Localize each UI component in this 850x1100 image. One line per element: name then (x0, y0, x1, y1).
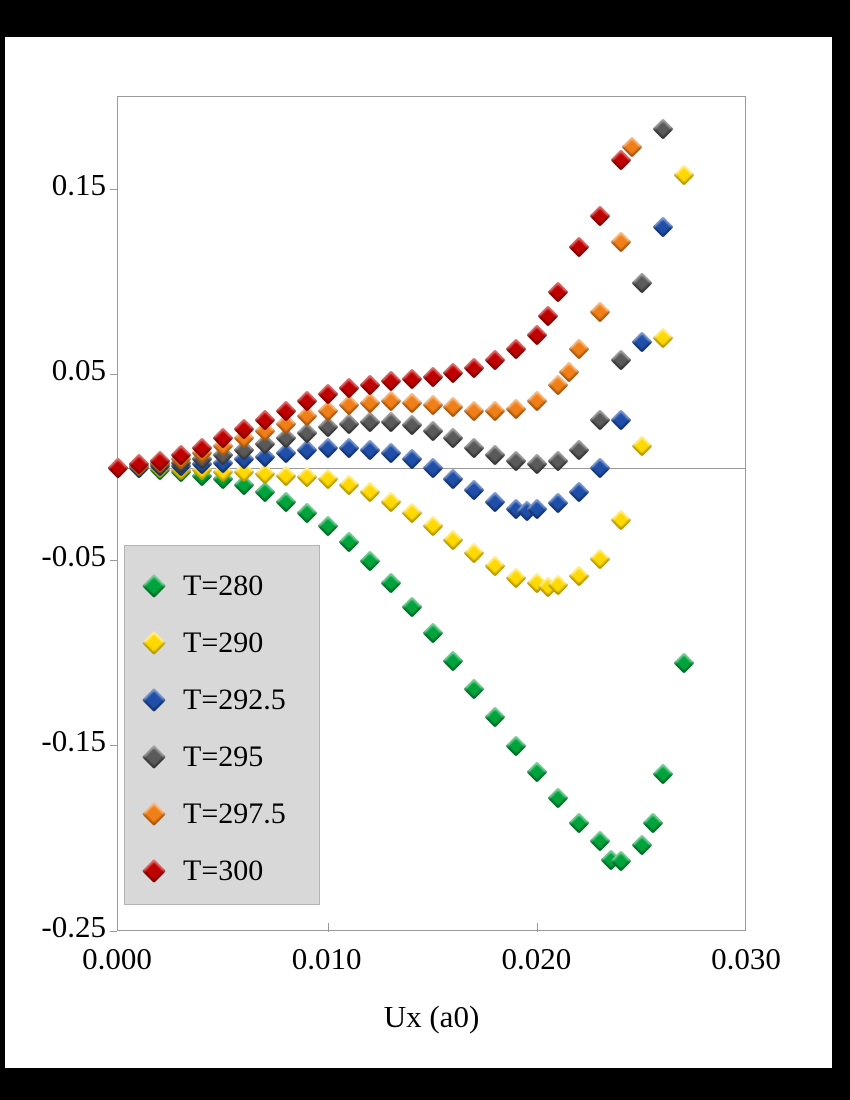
data-point-marker (422, 623, 443, 644)
data-point-marker (653, 328, 674, 349)
legend-item-label: T=297.5 (183, 797, 286, 831)
data-point-marker (422, 367, 443, 388)
data-point-marker (443, 469, 464, 490)
legend-marker-icon (143, 803, 165, 825)
data-point-marker (401, 597, 422, 618)
legend-marker-icon (143, 632, 165, 654)
data-point-marker (443, 530, 464, 551)
y-axis-tick-label: -0.05 (0, 538, 106, 574)
data-point-marker (317, 469, 338, 490)
data-point-marker (548, 281, 569, 302)
legend-marker-icon (143, 860, 165, 882)
data-point-marker (359, 550, 380, 571)
data-point-marker (443, 396, 464, 417)
data-point-marker (401, 368, 422, 389)
data-point-marker (275, 491, 296, 512)
data-point-marker (590, 409, 611, 430)
y-axis-tick (110, 560, 117, 561)
x-axis-tick (537, 923, 538, 932)
data-point-marker (338, 474, 359, 495)
legend-item[interactable]: T=300 (125, 841, 319, 901)
data-point-marker (464, 480, 485, 501)
y-axis-tick-label: -0.15 (0, 723, 106, 759)
data-point-marker (380, 391, 401, 412)
legend-item[interactable]: T=290 (125, 613, 319, 673)
data-point-marker (506, 398, 527, 419)
data-point-marker (380, 491, 401, 512)
data-point-marker (464, 543, 485, 564)
data-point-marker (611, 509, 632, 530)
data-point-marker (569, 439, 590, 460)
data-point-marker (653, 764, 674, 785)
x-axis-tick-label: 0.000 (37, 941, 197, 977)
data-point-marker (527, 324, 548, 345)
data-point-marker (548, 493, 569, 514)
data-point-marker (443, 363, 464, 384)
data-point-marker (485, 445, 506, 466)
y-axis-tick (110, 374, 117, 375)
data-point-marker (401, 448, 422, 469)
data-point-marker (485, 706, 506, 727)
legend-item-label: T=280 (183, 569, 263, 603)
data-point-marker (422, 458, 443, 479)
data-point-marker (359, 482, 380, 503)
data-point-marker (296, 391, 317, 412)
data-point-marker (611, 231, 632, 252)
data-point-marker (506, 567, 527, 588)
y-axis-tick (110, 931, 117, 932)
data-point-marker (673, 652, 694, 673)
data-point-marker (590, 458, 611, 479)
data-point-marker (422, 394, 443, 415)
data-point-marker (422, 515, 443, 536)
data-point-marker (569, 237, 590, 258)
data-point-marker (611, 350, 632, 371)
data-point-marker (506, 736, 527, 757)
x-axis-tick-label: 0.010 (247, 941, 407, 977)
data-point-marker (380, 370, 401, 391)
y-axis-tick (110, 745, 117, 746)
data-point-marker (590, 302, 611, 323)
data-point-marker (569, 482, 590, 503)
data-point-marker (401, 415, 422, 436)
data-point-marker (569, 565, 590, 586)
data-point-marker (485, 491, 506, 512)
data-point-marker (380, 411, 401, 432)
data-point-marker (569, 812, 590, 833)
data-point-marker (485, 400, 506, 421)
image-frame: G(P,T;Ux) - G(P,T;Ux=0) (meV/5-atom cell… (0, 0, 850, 1100)
data-point-marker (642, 812, 663, 833)
data-point-marker (485, 350, 506, 371)
data-point-marker (464, 678, 485, 699)
data-point-marker (632, 272, 653, 293)
data-point-marker (537, 305, 558, 326)
x-axis-tick (328, 923, 329, 932)
data-point-marker (443, 650, 464, 671)
data-point-marker (590, 830, 611, 851)
data-point-marker (359, 439, 380, 460)
data-point-marker (485, 556, 506, 577)
legend-item[interactable]: T=292.5 (125, 670, 319, 730)
data-point-marker (632, 435, 653, 456)
data-point-marker (359, 393, 380, 414)
data-point-marker (254, 482, 275, 503)
data-point-marker (632, 834, 653, 855)
legend-item[interactable]: T=295 (125, 727, 319, 787)
data-point-marker (338, 532, 359, 553)
legend-item-label: T=292.5 (183, 683, 286, 717)
data-point-marker (464, 437, 485, 458)
data-point-marker (401, 393, 422, 414)
data-point-marker (464, 400, 485, 421)
data-point-marker (527, 762, 548, 783)
y-axis-tick (110, 189, 117, 190)
legend-marker-icon (143, 689, 165, 711)
data-point-marker (275, 400, 296, 421)
data-point-marker (338, 413, 359, 434)
data-point-marker (673, 164, 694, 185)
data-point-marker (317, 515, 338, 536)
x-axis-tick-label: 0.020 (456, 941, 616, 977)
x-axis-tick-label: 0.030 (666, 941, 826, 977)
legend-item[interactable]: T=280 (125, 556, 319, 616)
data-point-marker (359, 374, 380, 395)
data-point-marker (380, 443, 401, 464)
chart-legend: T=280T=290T=292.5T=295T=297.5T=300 (124, 545, 320, 905)
data-point-marker (527, 391, 548, 412)
legend-marker-icon (143, 746, 165, 768)
legend-item-label: T=290 (183, 626, 263, 660)
data-point-marker (590, 205, 611, 226)
data-point-marker (422, 420, 443, 441)
data-point-marker (506, 339, 527, 360)
data-point-marker (401, 502, 422, 523)
data-point-marker (443, 428, 464, 449)
legend-item-label: T=300 (183, 854, 263, 888)
chart-canvas: G(P,T;Ux) - G(P,T;Ux=0) (meV/5-atom cell… (5, 37, 832, 1068)
data-point-marker (464, 357, 485, 378)
data-point-marker (653, 118, 674, 139)
y-axis-tick-label: -0.25 (0, 909, 106, 945)
data-point-marker (317, 383, 338, 404)
data-point-marker (632, 331, 653, 352)
data-point-marker (590, 548, 611, 569)
data-point-marker (296, 502, 317, 523)
x-axis-label: Ux (a0) (117, 999, 746, 1035)
y-axis-tick-label: 0.15 (0, 167, 106, 203)
y-axis-tick-label: 0.05 (0, 352, 106, 388)
legend-item[interactable]: T=297.5 (125, 784, 319, 844)
data-point-marker (527, 454, 548, 475)
data-point-marker (380, 573, 401, 594)
data-point-marker (548, 788, 569, 809)
data-point-marker (317, 437, 338, 458)
data-point-marker (653, 216, 674, 237)
data-point-marker (338, 437, 359, 458)
data-point-marker (296, 467, 317, 488)
data-point-marker (107, 458, 128, 479)
data-point-marker (338, 378, 359, 399)
legend-item-label: T=295 (183, 740, 263, 774)
data-point-marker (611, 409, 632, 430)
legend-marker-icon (143, 575, 165, 597)
data-point-marker (569, 339, 590, 360)
data-point-marker (359, 411, 380, 432)
